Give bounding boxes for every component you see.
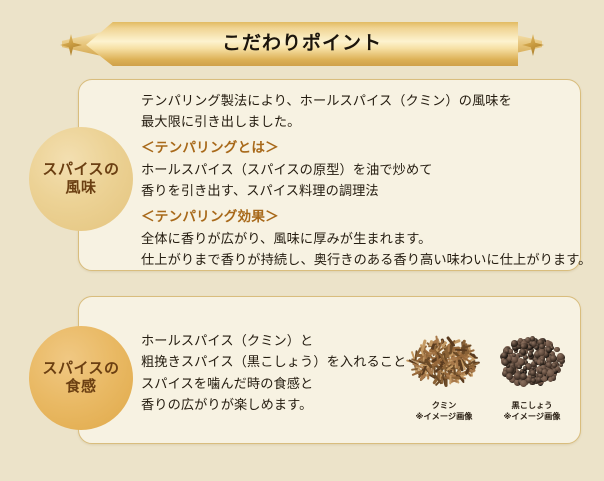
flavor-p3-line1: 全体に香りが広がり、風味に厚みが生まれます。	[141, 228, 591, 249]
page-title: こだわりポイント	[0, 22, 604, 66]
texture-line4: 香りの広がりが楽しめます。	[141, 394, 432, 415]
badge-texture-line-2: 食感	[65, 378, 96, 396]
cumin-photo-item: クミン ※イメージ画像	[404, 322, 484, 422]
cumin-label: クミン	[404, 400, 484, 411]
flavor-p2-line1: ホールスパイス（スパイスの原型）を油で炒めて	[141, 159, 591, 180]
black-pepper-caption: 黒こしょう ※イメージ画像	[492, 400, 572, 422]
flavor-p3-line2: 仕上がりまで香りが持続し、奥行きのある香り高い味わいに仕上がります。	[141, 249, 591, 270]
header-banner: こだわりポイント	[0, 22, 604, 66]
black-pepper-photo	[492, 322, 572, 396]
flavor-heading-tempering-effect: ＜テンパリング効果＞	[141, 206, 591, 228]
black-pepper-photo-item: 黒こしょう ※イメージ画像	[492, 322, 572, 422]
flavor-heading-tempering-definition: ＜テンパリングとは＞	[141, 137, 591, 159]
badge-flavor-line-1: スパイスの	[42, 161, 119, 179]
black-pepper-note: ※イメージ画像	[492, 411, 572, 422]
flavor-p1-line2: 最大限に引き出しました。	[141, 111, 591, 132]
cumin-note: ※イメージ画像	[404, 411, 484, 422]
badge-spice-flavor: スパイスの 風味	[29, 127, 133, 231]
flavor-body-text: テンパリング製法により、ホールスパイス（クミン）の風味を 最大限に引き出しました…	[141, 90, 591, 270]
badge-spice-texture: スパイスの 食感	[29, 326, 133, 430]
badge-flavor-line-2: 風味	[65, 179, 96, 197]
spice-photo-row: クミン ※イメージ画像 黒こしょう ※イメージ画像	[404, 322, 572, 422]
badge-texture-line-1: スパイスの	[42, 360, 119, 378]
black-pepper-label: 黒こしょう	[492, 400, 572, 411]
texture-body-text: ホールスパイス（クミン）と 粗挽きスパイス（黒こしょう）を入れることで、 スパイ…	[141, 330, 432, 416]
cumin-caption: クミン ※イメージ画像	[404, 400, 484, 422]
texture-line1: ホールスパイス（クミン）と	[141, 330, 432, 351]
flavor-p2-line2: 香りを引き出す、スパイス料理の調理法	[141, 180, 591, 201]
texture-line3: スパイスを噛んだ時の食感と	[141, 373, 432, 394]
cumin-photo	[404, 322, 484, 396]
flavor-p1-line1: テンパリング製法により、ホールスパイス（クミン）の風味を	[141, 90, 591, 111]
texture-line2: 粗挽きスパイス（黒こしょう）を入れることで、	[141, 351, 432, 372]
